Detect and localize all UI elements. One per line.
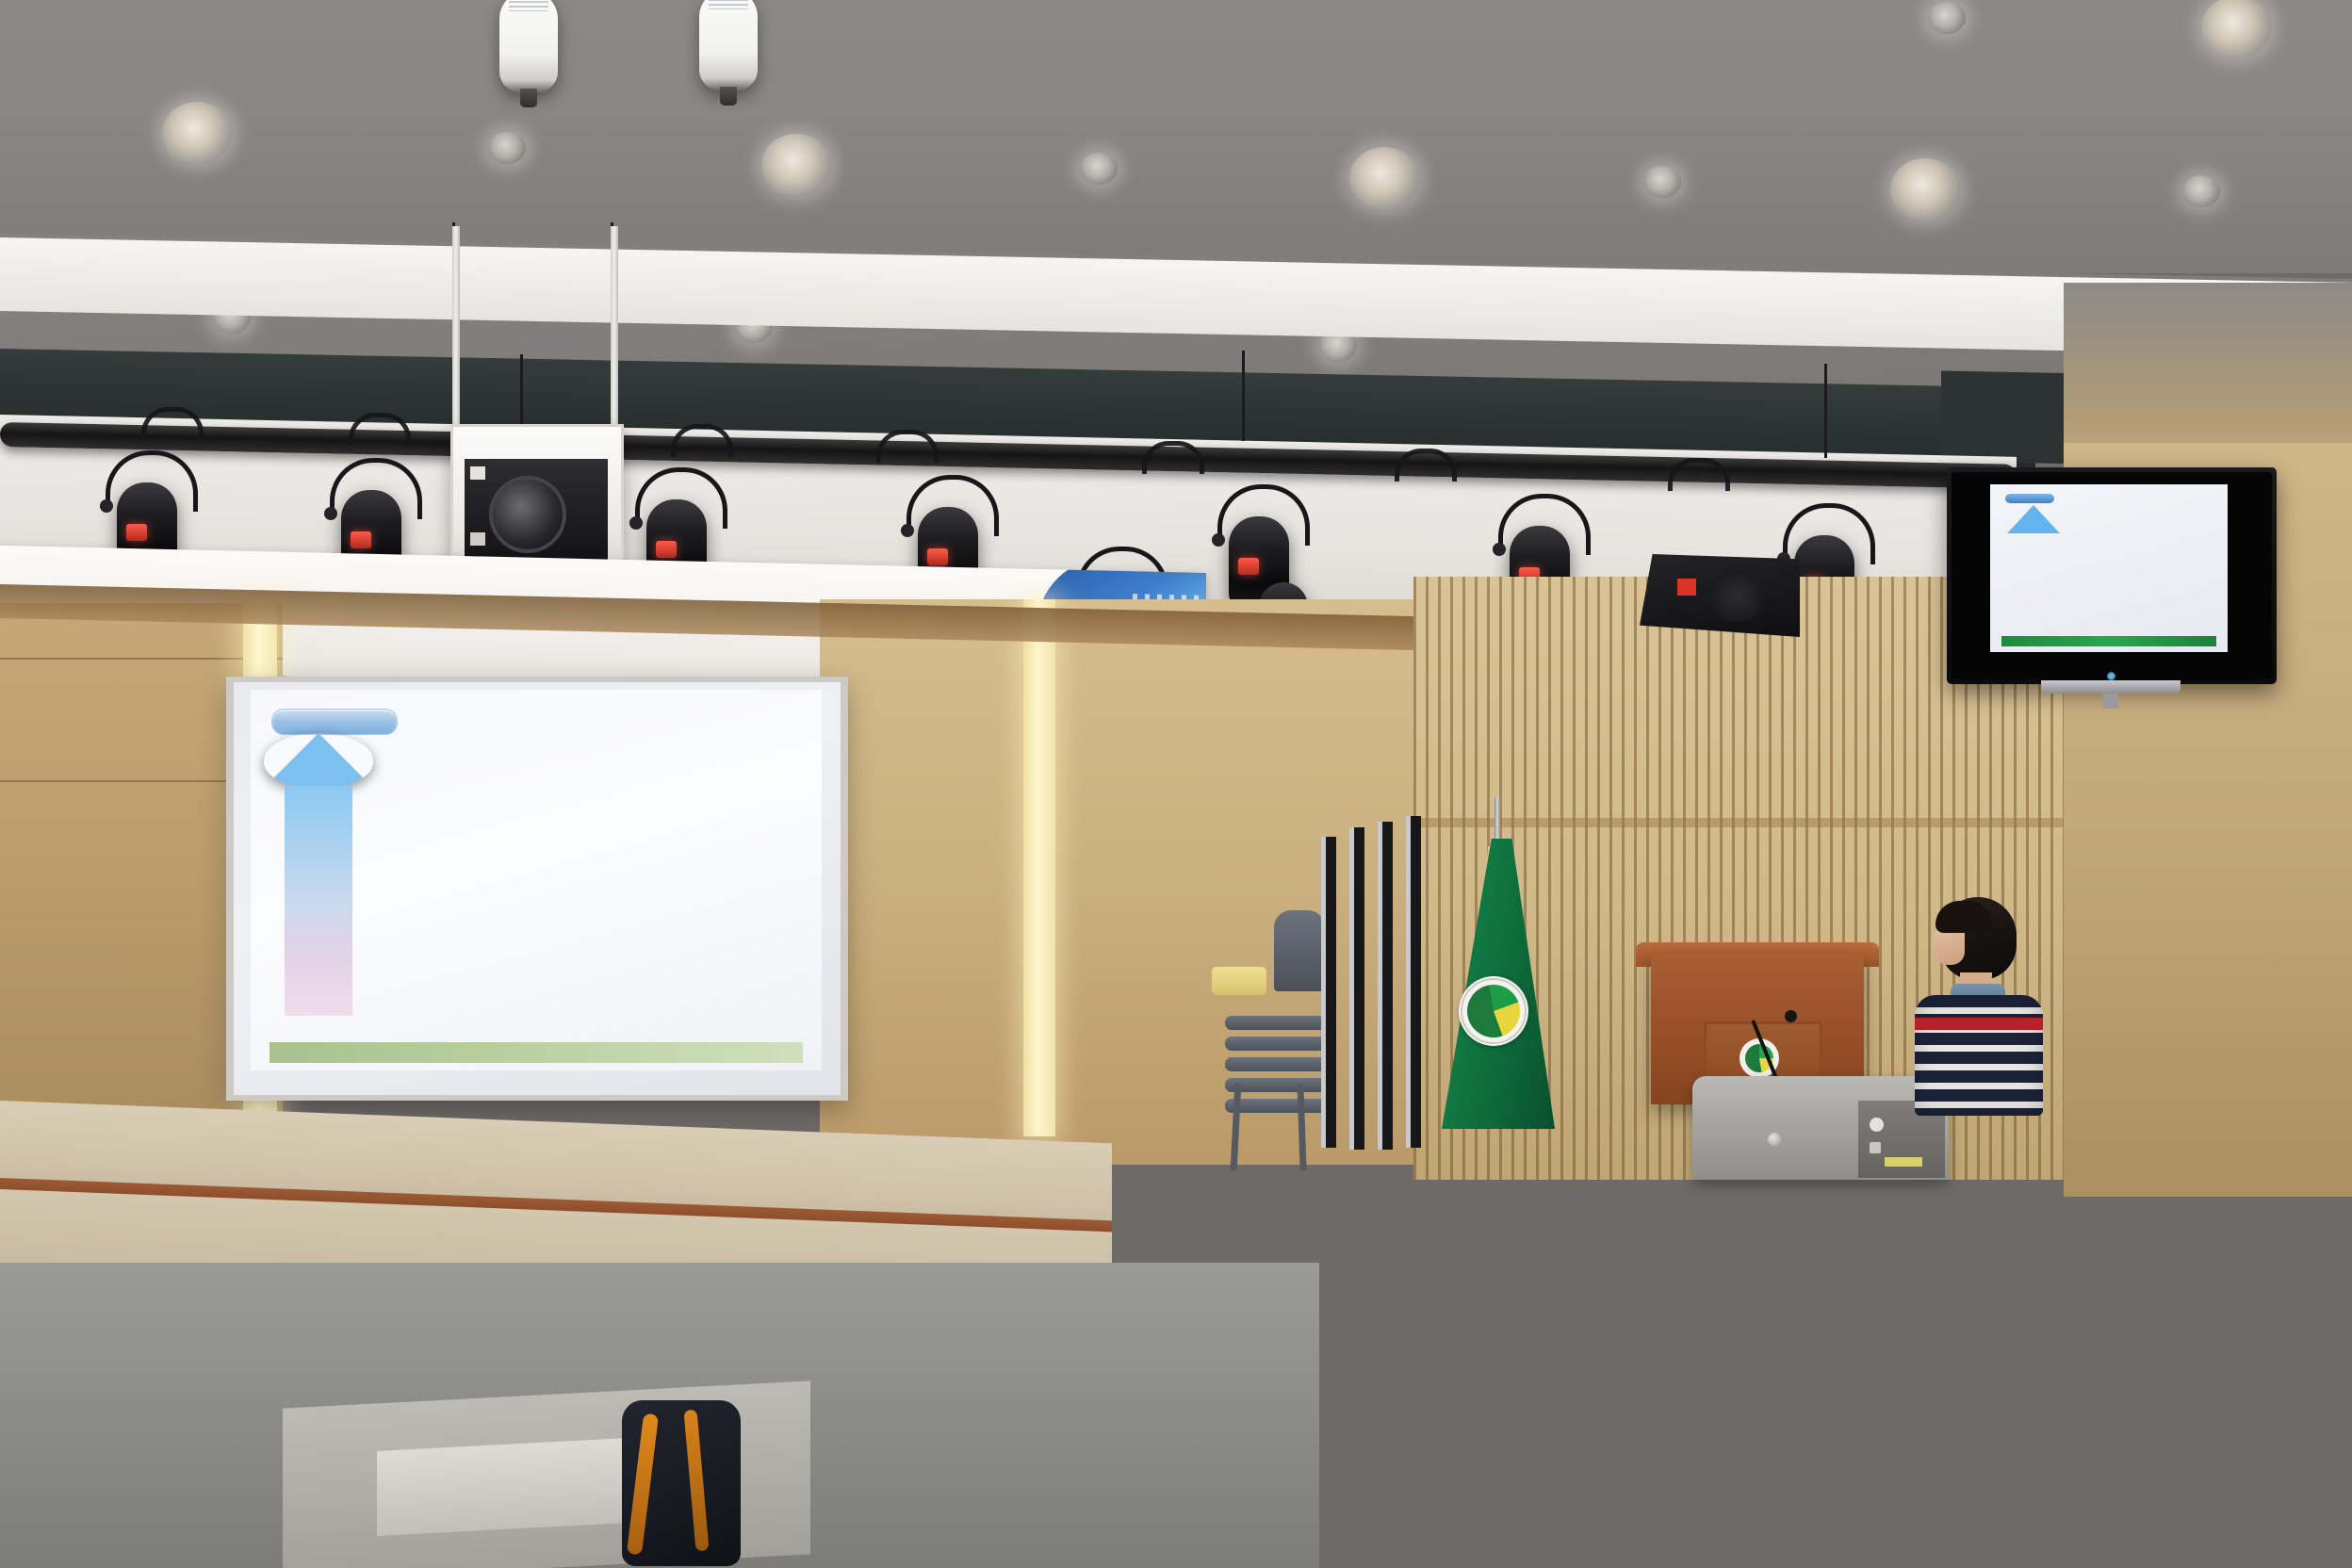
tv-slide-arrow — [2007, 505, 2060, 533]
ceiling-downlight — [761, 134, 831, 196]
banner-main-title — [0, 563, 1084, 589]
tv-brand-label — [2088, 663, 2145, 671]
projection-screen — [226, 677, 848, 1101]
tv-slide-footer — [2001, 636, 2216, 646]
yellow-chair-cover — [1212, 967, 1266, 995]
slide-title-badge — [271, 709, 398, 735]
slide-content — [251, 690, 822, 1070]
presenter-sweater-red-stripe — [1915, 1018, 2043, 1030]
tv-mount-bracket — [2041, 680, 2180, 694]
ceiling-downlight — [2182, 175, 2220, 207]
auditorium-photo — [0, 0, 2352, 1568]
ceiling-pendant-light — [699, 0, 758, 90]
av-control-knob[interactable] — [1870, 1118, 1884, 1132]
av-control-button[interactable] — [1870, 1142, 1881, 1153]
projector-mount-rod — [452, 226, 460, 428]
university-emblem-icon — [1459, 976, 1528, 1046]
right-wall-upper — [2064, 283, 2352, 462]
presenter-person — [1902, 897, 2052, 1114]
center-light-column — [1023, 599, 1055, 1136]
timeline-arrow-graphic — [264, 733, 373, 1016]
slide-footer-bar — [269, 1042, 803, 1063]
truss-drop-wire — [1242, 351, 1245, 441]
folded-table — [1321, 837, 1336, 1148]
projector-mount-rod — [611, 226, 618, 428]
presenter-hair — [1935, 901, 1992, 933]
ceiling-upper — [0, 0, 2352, 273]
av-cabinet-latch — [1768, 1133, 1781, 1146]
ceiling-downlight — [1080, 153, 1118, 185]
ceiling-downlight — [1928, 2, 1966, 34]
speaker-brand-logo — [1677, 579, 1696, 596]
ceiling-downlight — [1890, 158, 1960, 220]
ceiling-downlight — [1643, 166, 1681, 198]
folded-table — [1349, 827, 1364, 1150]
presenter-striped-sweater — [1915, 995, 2043, 1116]
tv-screen-content — [1990, 484, 2228, 652]
av-label-strip — [1885, 1157, 1922, 1167]
tv-slide-badge — [2005, 494, 2054, 503]
microphone-head-icon — [1785, 1010, 1797, 1022]
ceiling-downlight — [162, 102, 232, 164]
tv-power-led — [2107, 672, 2115, 680]
ceiling-downlight — [1349, 147, 1419, 209]
folded-table — [1406, 816, 1421, 1148]
truss-drop-wire — [520, 354, 523, 430]
folded-table — [1378, 822, 1393, 1150]
truss-drop-wire — [1824, 364, 1827, 458]
wall-mounted-tv — [1947, 467, 2277, 684]
stacked-chairs — [1225, 933, 1329, 1168]
wall-pa-speaker — [1640, 554, 1800, 637]
ceiling-downlight — [488, 132, 526, 164]
student-backpack — [622, 1400, 741, 1566]
ceiling-pendant-light — [499, 0, 558, 92]
